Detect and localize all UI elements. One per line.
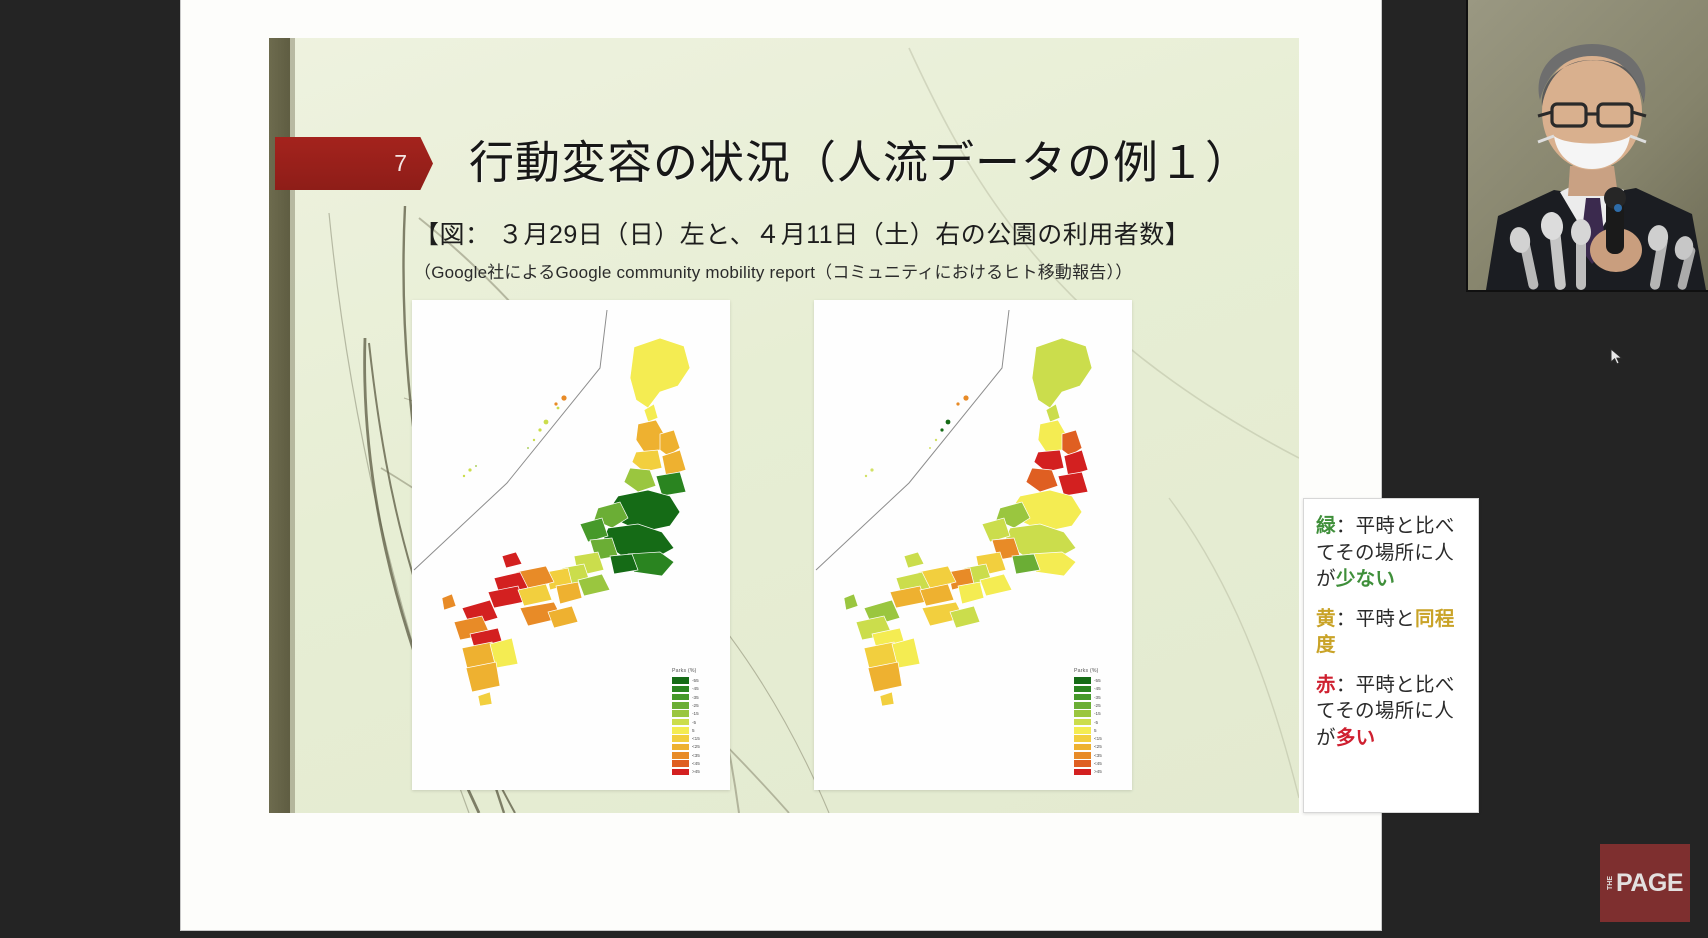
legend-swatch	[672, 760, 689, 767]
annotation-green-emphasis: 少ない	[1336, 568, 1395, 590]
legend-row: -55	[1074, 676, 1120, 684]
map-left-march29: Parks (%) -55-45-35-25-15-55<15<25<35<45…	[412, 300, 730, 790]
legend-label: -5	[1094, 720, 1098, 725]
document-page: 7 行動変容の状況（人流データの例１） 【図： ３月29日（日）左と、４月11日…	[181, 0, 1381, 930]
legend-row: >45	[1074, 768, 1120, 776]
annotation-yellow: 黄：平時と同程度	[1316, 606, 1469, 659]
legend-title: Parks (%)	[672, 668, 718, 674]
legend-swatch	[1074, 727, 1091, 734]
presentation-slide: 7 行動変容の状況（人流データの例１） 【図： ３月29日（日）左と、４月11日…	[269, 38, 1299, 813]
legend-swatch	[672, 727, 689, 734]
legend-label: 5	[1094, 728, 1097, 733]
legend-label: <35	[692, 753, 700, 758]
legend-label: -25	[1094, 703, 1101, 708]
legend-label: -35	[692, 695, 699, 700]
legend-label: >45	[1094, 769, 1102, 774]
slide-number-badge: 7	[275, 137, 433, 190]
legend-swatch	[672, 719, 689, 726]
legend-swatch	[672, 686, 689, 693]
legend-label: >45	[692, 769, 700, 774]
legend-label: <45	[692, 761, 700, 766]
legend-row: -35	[1074, 693, 1120, 701]
legend-row: <35	[672, 751, 718, 759]
legend-row: >45	[672, 768, 718, 776]
annotation-green-prefix: 緑	[1316, 515, 1336, 537]
legend-row: -15	[1074, 710, 1120, 718]
annotation-yellow-prefix: 黄	[1316, 608, 1336, 630]
legend-label: 5	[692, 728, 695, 733]
logo-the-text: THE	[1607, 876, 1614, 890]
legend-swatch	[672, 702, 689, 709]
map-legend-right: Parks (%) -55-45-35-25-15-55<15<25<35<45…	[1074, 668, 1120, 776]
legend-swatch	[1074, 710, 1091, 717]
legend-label: -45	[1094, 686, 1101, 691]
legend-row: 5	[672, 726, 718, 734]
legend-label: -45	[692, 686, 699, 691]
legend-row: -45	[1074, 685, 1120, 693]
subtitle-line-1: 【図： ３月29日（日）左と、４月11日（土）右の公園の利用者数】	[414, 215, 1274, 251]
legend-row: -15	[672, 710, 718, 718]
speaker-video-overlay[interactable]	[1468, 0, 1708, 290]
legend-row: -35	[672, 693, 718, 701]
legend-label: <35	[1094, 753, 1102, 758]
legend-swatch	[1074, 694, 1091, 701]
legend-label: <25	[692, 744, 700, 749]
legend-label: <15	[1094, 736, 1102, 741]
legend-row: 5	[1074, 726, 1120, 734]
legend-swatch	[1074, 752, 1091, 759]
legend-label: <25	[1094, 744, 1102, 749]
annotation-yellow-text: ：平時と	[1336, 608, 1415, 630]
legend-label: <45	[1094, 761, 1102, 766]
legend-swatch	[672, 769, 689, 776]
map-right-april11: Parks (%) -55-45-35-25-15-55<15<25<35<45…	[814, 300, 1132, 790]
mouse-cursor	[1610, 348, 1624, 366]
legend-row: -5	[1074, 718, 1120, 726]
annotation-green: 緑：平時と比べてその場所に人が少ない	[1316, 513, 1469, 593]
legend-label: -55	[692, 678, 699, 683]
legend-swatch	[1074, 744, 1091, 751]
legend-label: -25	[692, 703, 699, 708]
legend-rows: -55-45-35-25-15-55<15<25<35<45>45	[672, 676, 718, 776]
screen: 7 行動変容の状況（人流データの例１） 【図： ３月29日（日）左と、４月11日…	[0, 0, 1708, 938]
annotation-red: 赤：平時と比べてその場所に人が多い	[1316, 672, 1469, 752]
legend-row: <35	[1074, 751, 1120, 759]
legend-row: <45	[672, 759, 718, 767]
logo-lockup: THE PAGE	[1607, 869, 1683, 898]
slide-title: 行動変容の状況（人流データの例１）	[469, 126, 1279, 191]
legend-label: -15	[1094, 711, 1101, 716]
legend-row: -5	[672, 718, 718, 726]
annotation-red-emphasis: 多い	[1336, 727, 1376, 749]
legend-row: <15	[1074, 735, 1120, 743]
legend-label: -15	[692, 711, 699, 716]
legend-row: <25	[672, 743, 718, 751]
legend-swatch	[672, 752, 689, 759]
legend-rows: -55-45-35-25-15-55<15<25<35<45>45	[1074, 676, 1120, 776]
legend-swatch	[1074, 677, 1091, 684]
logo-page-text: PAGE	[1616, 869, 1683, 898]
legend-swatch	[672, 677, 689, 684]
legend-swatch	[1074, 760, 1091, 767]
legend-swatch	[1074, 686, 1091, 693]
legend-swatch	[672, 735, 689, 742]
color-legend-annotation: 緑：平時と比べてその場所に人が少ない 黄：平時と同程度 赤：平時と比べてその場所…	[1303, 498, 1479, 813]
the-page-logo: THE PAGE	[1600, 844, 1690, 922]
legend-title: Parks (%)	[1074, 668, 1120, 674]
legend-label: -55	[1094, 678, 1101, 683]
legend-label: <15	[692, 736, 700, 741]
legend-swatch	[672, 744, 689, 751]
legend-row: -45	[672, 685, 718, 693]
legend-swatch	[1074, 769, 1091, 776]
legend-swatch	[1074, 719, 1091, 726]
legend-swatch	[1074, 702, 1091, 709]
legend-label: -5	[692, 720, 696, 725]
speaker-figure	[1468, 0, 1708, 290]
subtitle-source-line: （Google社によるGoogle community mobility rep…	[414, 258, 1274, 283]
legend-label: -35	[1094, 695, 1101, 700]
slide-subtitle-block: 【図： ３月29日（日）左と、４月11日（土）右の公園の利用者数】 （Googl…	[414, 215, 1274, 283]
legend-row: <25	[1074, 743, 1120, 751]
legend-row: <15	[672, 735, 718, 743]
legend-row: -55	[672, 676, 718, 684]
legend-swatch	[672, 694, 689, 701]
slide-number-text: 7	[394, 150, 407, 177]
map-legend-left: Parks (%) -55-45-35-25-15-55<15<25<35<45…	[672, 668, 718, 776]
legend-swatch	[672, 710, 689, 717]
legend-row: -25	[672, 701, 718, 709]
legend-swatch	[1074, 735, 1091, 742]
annotation-red-prefix: 赤	[1316, 674, 1336, 696]
legend-row: -25	[1074, 701, 1120, 709]
legend-row: <45	[1074, 759, 1120, 767]
